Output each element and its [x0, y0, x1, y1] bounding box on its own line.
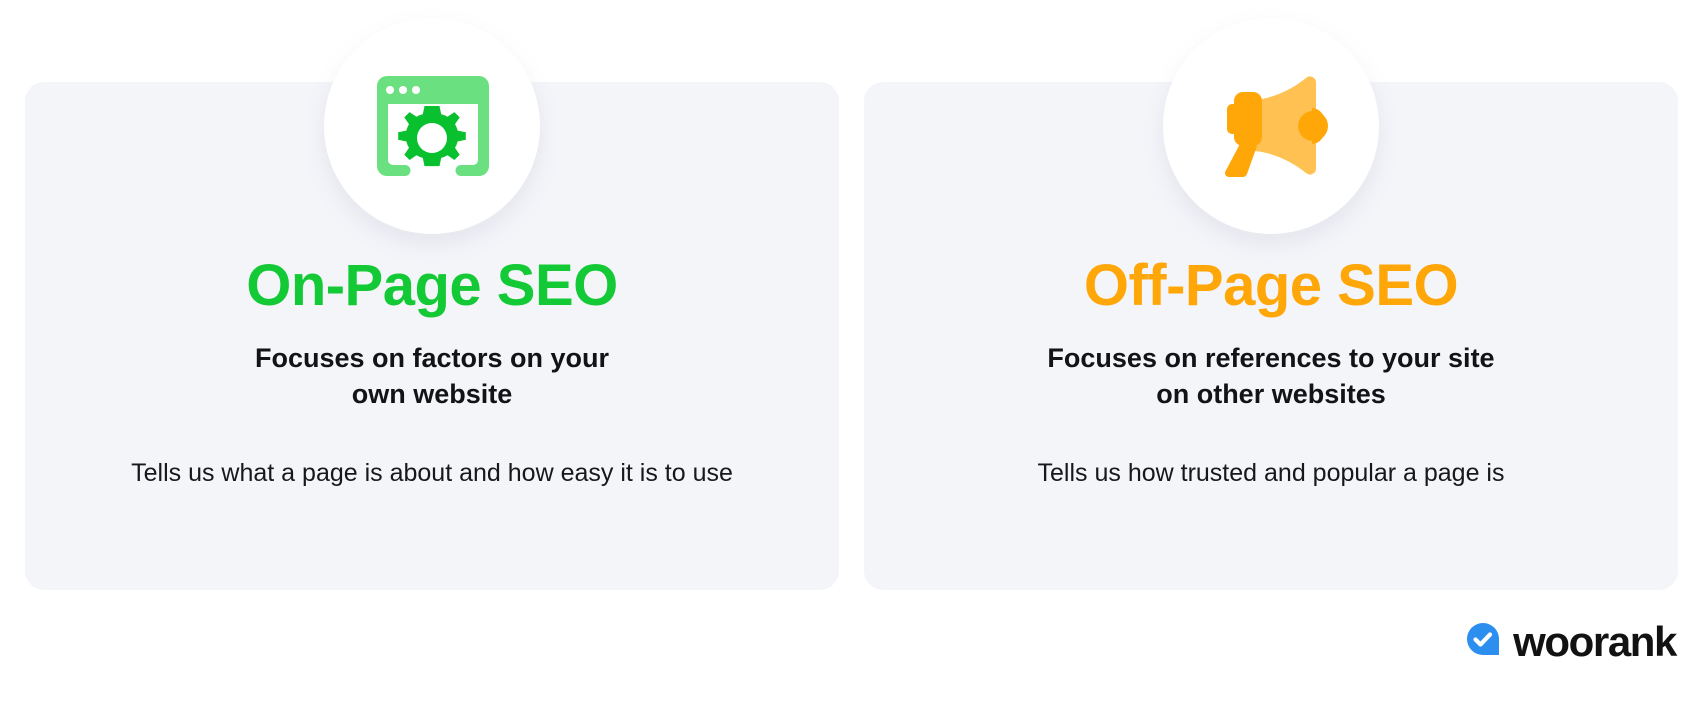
card-on-page-seo: On-Page SEO Focuses on factors on your o… [25, 82, 839, 590]
megaphone-icon [1208, 70, 1334, 182]
card-body-off-page-seo: Off-Page SEO Focuses on references to yo… [864, 256, 1678, 489]
woorank-check-leaf-icon [1463, 619, 1503, 664]
card-text-off-page-seo: Tells us how trusted and popular a page … [892, 457, 1650, 490]
page-title-on-page-seo: On-Page SEO [53, 256, 811, 317]
card-subtitle-off-page-seo: Focuses on references to your site on ot… [892, 341, 1650, 413]
icon-badge-off-page-seo [1163, 18, 1379, 234]
brand-name: woorank [1513, 621, 1676, 663]
card-subtitle-on-page-seo: Focuses on factors on your own website [53, 341, 811, 413]
browser-gear-icon [373, 70, 491, 182]
icon-badge-on-page-seo [324, 18, 540, 234]
page-title-off-page-seo: Off-Page SEO [892, 256, 1650, 317]
comparison-cards-row: On-Page SEO Focuses on factors on your o… [25, 82, 1678, 590]
card-body-on-page-seo: On-Page SEO Focuses on factors on your o… [25, 256, 839, 489]
card-text-on-page-seo: Tells us what a page is about and how ea… [53, 457, 811, 490]
card-off-page-seo: Off-Page SEO Focuses on references to yo… [864, 82, 1678, 590]
seo-comparison-infographic: On-Page SEO Focuses on factors on your o… [0, 0, 1700, 702]
brand-logo: woorank [1463, 619, 1676, 664]
